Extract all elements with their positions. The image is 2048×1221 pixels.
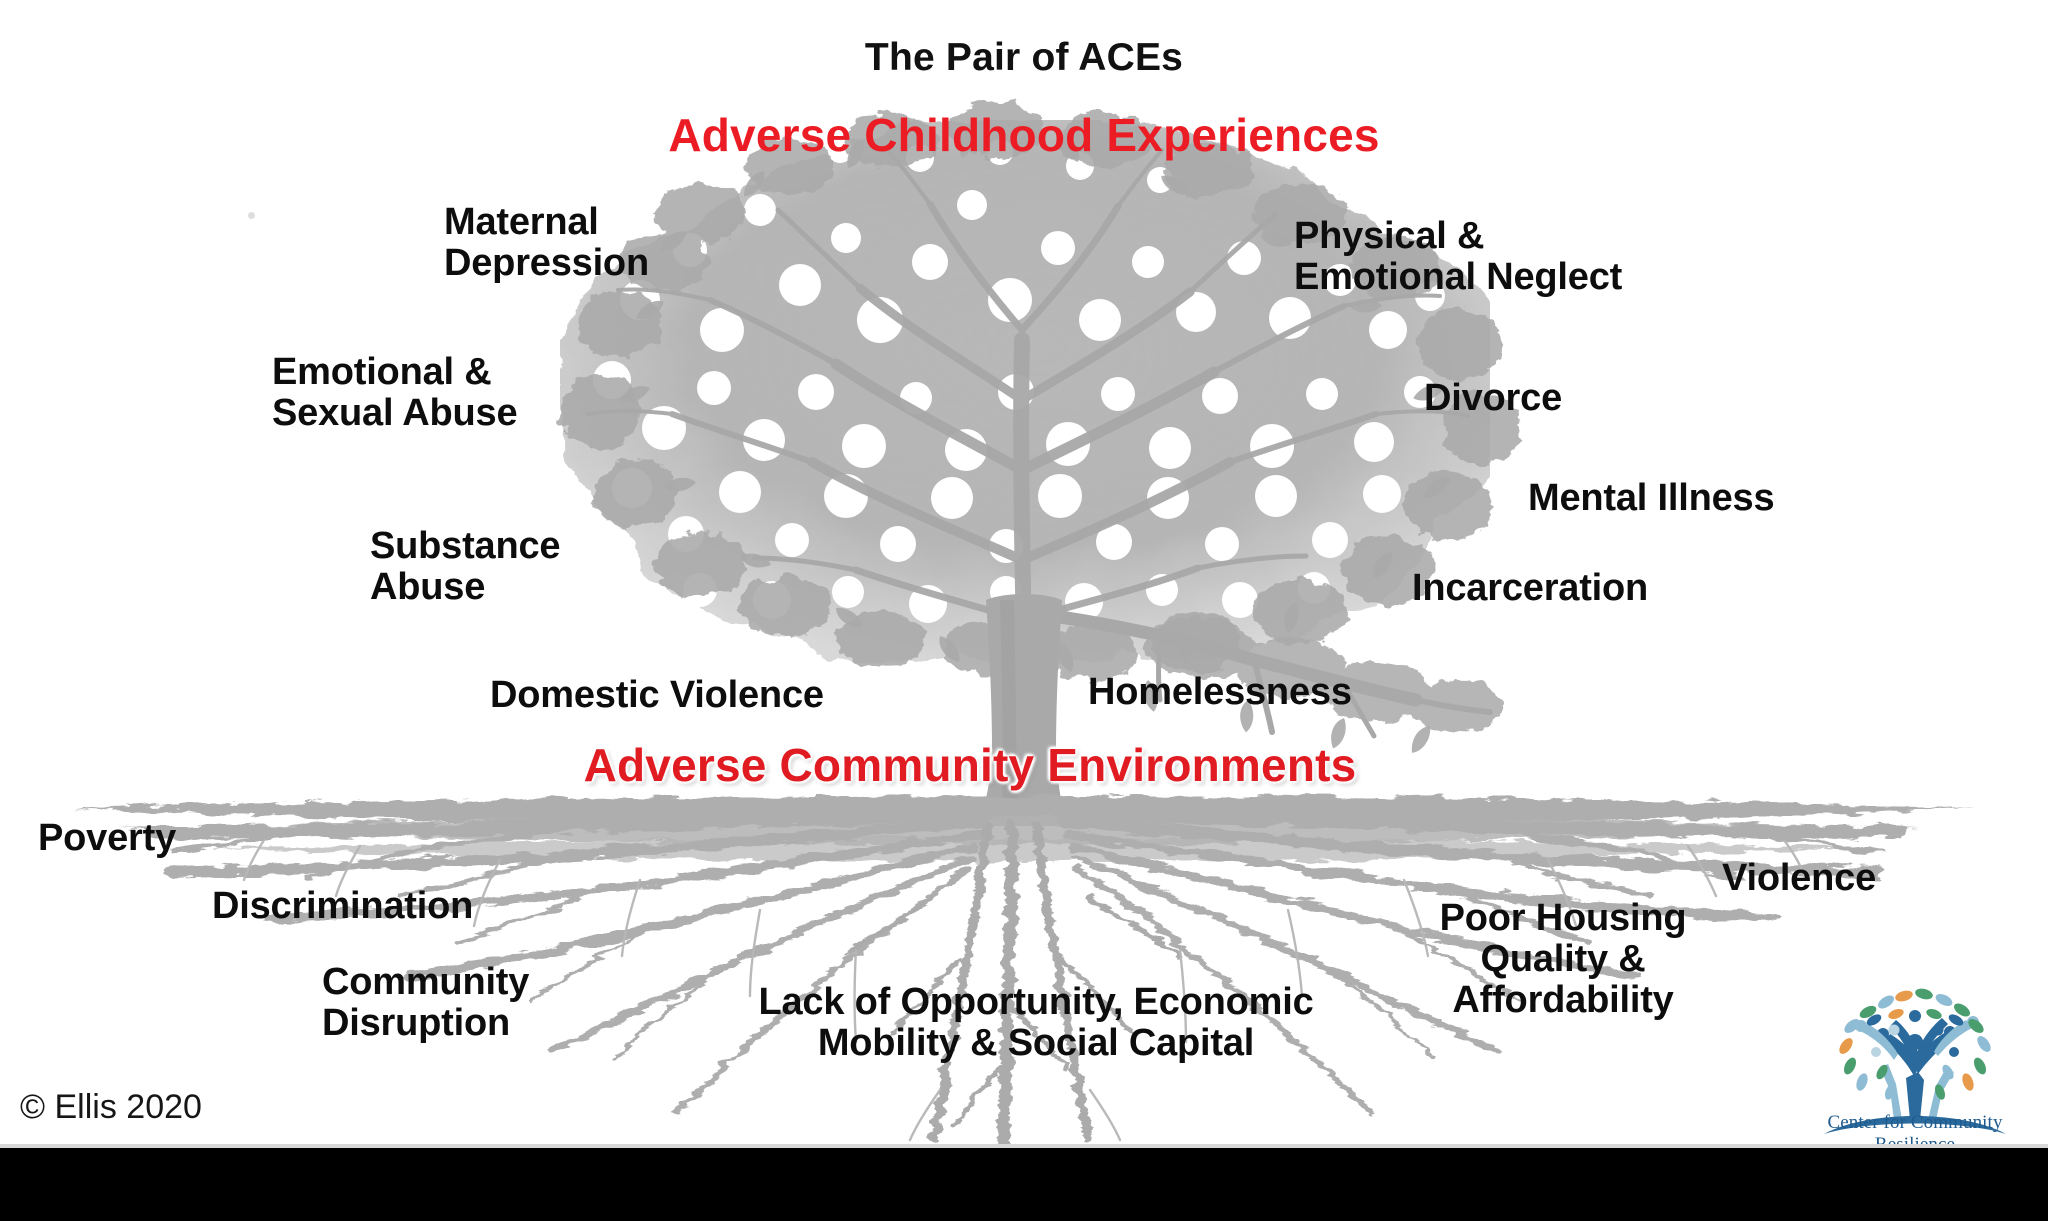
label-domestic-violence: Domestic Violence [490,675,824,716]
section-heading-community: Adverse Community Environments [0,738,1940,792]
image-artifact-speck [248,212,255,219]
label-homelessness: Homelessness [1088,672,1352,713]
label-discrimination: Discrimination [212,886,473,927]
label-poor-housing: Poor Housing Quality & Affordability [1418,898,1708,1021]
label-lack-of-opportunity: Lack of Opportunity, Economic Mobility &… [706,982,1366,1064]
label-maternal-depression: Maternal Depression [444,202,649,284]
label-community-disruption: Community Disruption [322,962,529,1044]
label-emotional-sexual-abuse: Emotional & Sexual Abuse [272,352,517,434]
label-mental-illness: Mental Illness [1528,478,1774,519]
page-title: The Pair of ACEs [0,36,2048,80]
label-substance-abuse: Substance Abuse [370,526,560,608]
tree-illustration [0,0,2048,1148]
section-heading-aces: Adverse Childhood Experiences [0,108,2048,162]
label-divorce: Divorce [1424,378,1562,419]
letterbox-bar [0,1148,2048,1221]
label-violence: Violence [1722,858,1876,899]
copyright-notice: © Ellis 2020 [20,1088,202,1127]
slide-canvas: The Pair of ACEs Adverse Childhood Exper… [0,0,2048,1221]
label-poverty: Poverty [38,818,176,859]
label-incarceration: Incarceration [1412,568,1648,609]
label-physical-emotional-neglect: Physical & Emotional Neglect [1294,216,1622,298]
